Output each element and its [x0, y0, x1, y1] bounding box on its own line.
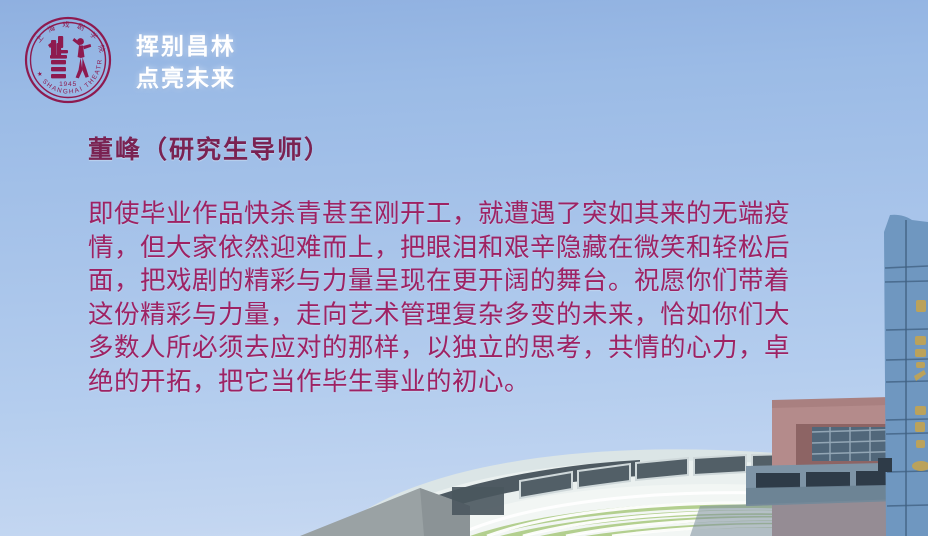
message-line: 面，把戏剧的精彩与力量呈现在更开阔的舞台。祝愿你们带着 — [88, 265, 924, 299]
stadium-seating — [420, 484, 928, 536]
message-line: 情，但大家依然迎难而上，把眼泪和艰辛隐藏在微笑和轻松后 — [88, 232, 924, 266]
message-body: 即使毕业作品快杀青甚至刚开工，就遭遇了突如其来的无端疫 情，但大家依然迎难而上，… — [88, 198, 924, 399]
speaker-name: 董峰（研究生导师） — [88, 130, 331, 166]
message-line: 多数人所必须去应对的那样，以独立的思考，共情的心力，卓 — [88, 332, 924, 366]
grey-wedge — [300, 488, 470, 536]
message-line: 绝的开拓，把它当作毕生事业的初心。 — [88, 366, 924, 400]
canopy-fascia — [404, 454, 790, 522]
green-field — [470, 502, 928, 536]
graduation-message-card: ★ SHANGHAI THEATRE ACADEMY ★ 上 海 戏 剧 学 院 — [0, 0, 928, 536]
message-line: 即使毕业作品快杀青甚至刚开工，就遭遇了突如其来的无端疫 — [88, 198, 924, 232]
header-titles: 挥别昌林 点亮未来 — [136, 29, 236, 92]
deck-windows — [756, 470, 928, 488]
card-header: ★ SHANGHAI THEATRE ACADEMY ★ 上 海 戏 剧 学 院 — [22, 14, 236, 106]
mauve-building — [772, 400, 928, 536]
message-line: 这份精彩与力量，走向艺术管理复杂多变的未来，恰如你们大 — [88, 299, 924, 333]
svg-text:1945: 1945 — [59, 81, 77, 88]
header-title-line-2: 点亮未来 — [136, 65, 236, 91]
header-title-line-1: 挥别昌林 — [136, 33, 236, 59]
shanghai-theatre-academy-seal-icon: ★ SHANGHAI THEATRE ACADEMY ★ 上 海 戏 剧 学 院 — [22, 14, 114, 106]
stadium-canopy — [330, 449, 928, 536]
